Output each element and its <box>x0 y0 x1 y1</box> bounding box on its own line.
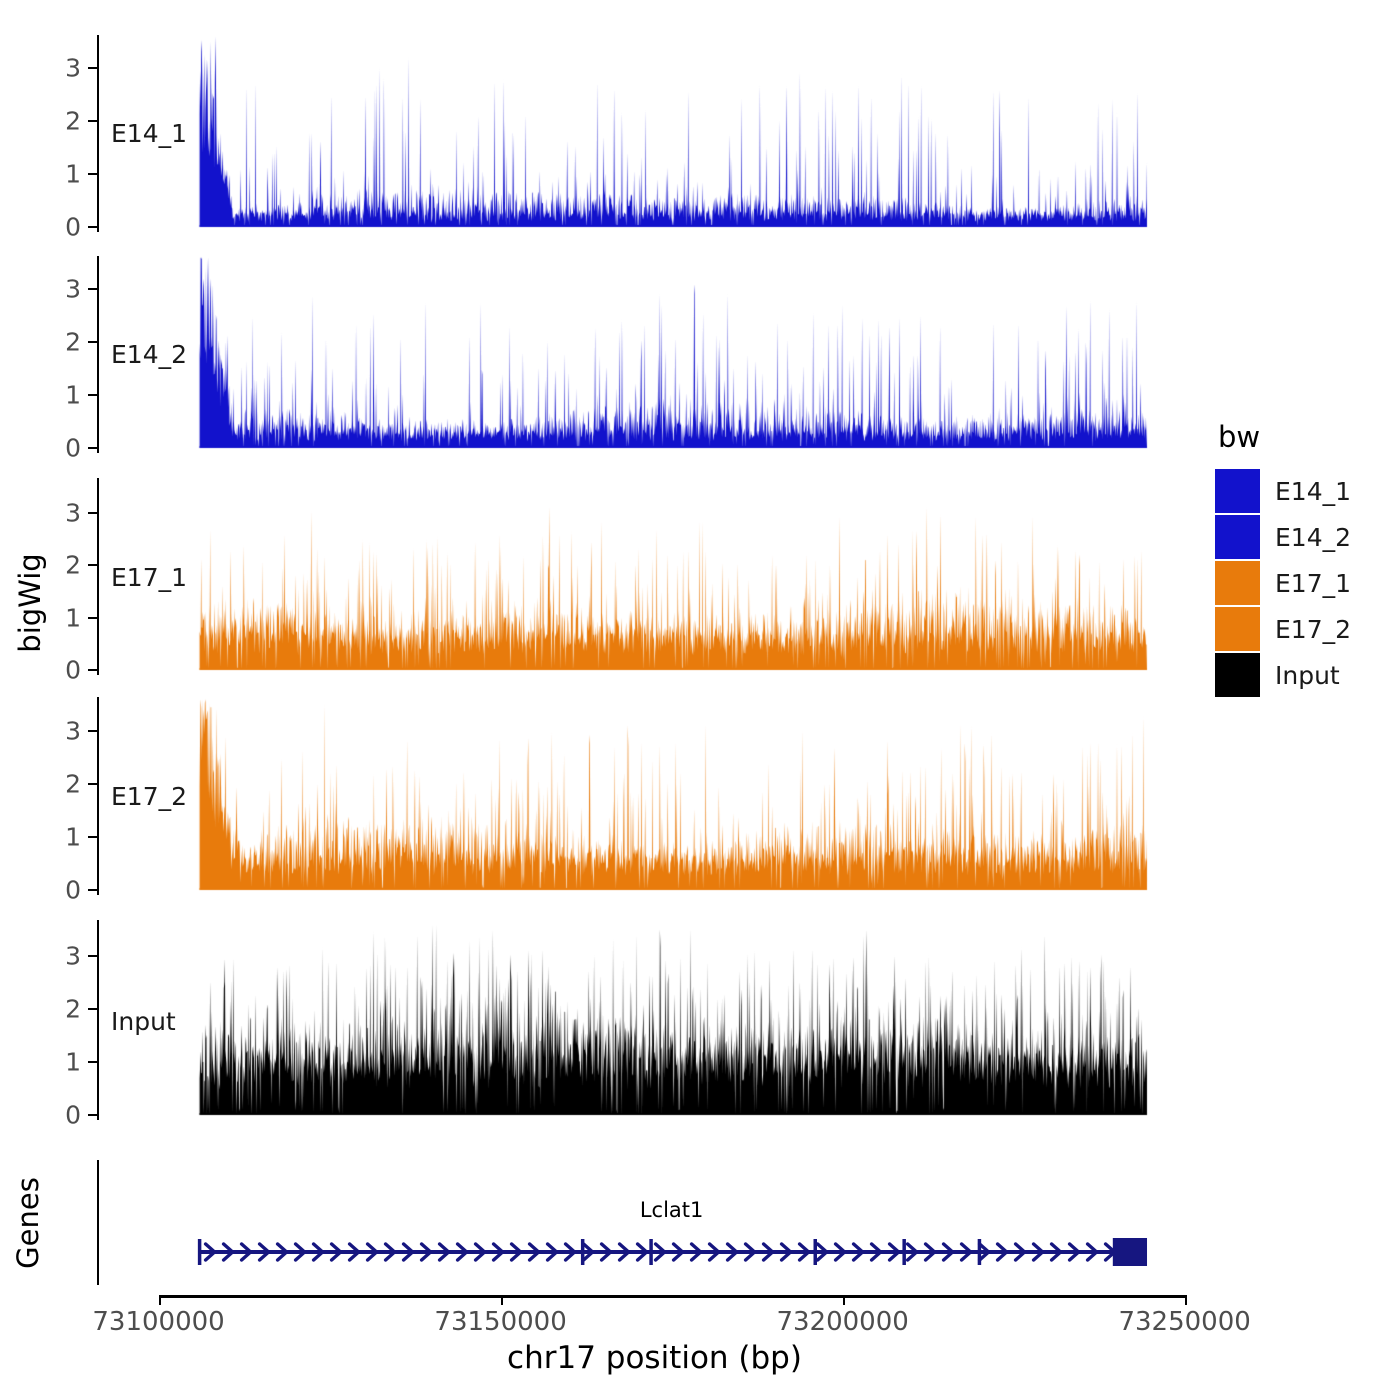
y-tick <box>88 617 97 619</box>
y-tick-label: 0 <box>65 658 81 683</box>
y-tick <box>88 564 97 566</box>
x-tick-label: 73100000 <box>92 1309 224 1335</box>
legend-swatch <box>1215 653 1260 697</box>
track-signal-e14_1 <box>97 35 1212 232</box>
y-tick-label: 3 <box>65 56 81 81</box>
y-tick-label: 2 <box>65 553 81 578</box>
legend-item-e14_1[interactable]: E14_1 <box>1215 468 1400 514</box>
y-tick-label: 1 <box>65 1050 81 1075</box>
y-tick <box>88 783 97 785</box>
y-tick-label: 1 <box>65 605 81 630</box>
y-tick <box>88 67 97 69</box>
y-tick-label: 2 <box>65 997 81 1022</box>
track-signal-e17_1 <box>97 478 1212 675</box>
legend-title: bw <box>1218 420 1400 454</box>
track-panel-e17_2: 0123E17_2 <box>97 697 1212 895</box>
y-tick <box>88 341 97 343</box>
bigwig-axis-title: bigWig <box>12 528 48 678</box>
y-tick-label: 3 <box>65 944 81 969</box>
y-tick <box>88 889 97 891</box>
y-tick <box>88 120 97 122</box>
y-tick-label: 2 <box>65 330 81 355</box>
x-tick <box>1185 1295 1187 1305</box>
x-tick <box>159 1295 161 1305</box>
track-signal-input <box>97 920 1212 1120</box>
legend-swatch <box>1215 561 1260 605</box>
y-tick <box>88 955 97 957</box>
x-axis-line <box>159 1295 1185 1298</box>
track-panel-input: 0123Input <box>97 920 1212 1120</box>
track-panel-e14_2: 0123E14_2 <box>97 256 1212 453</box>
legend-label: E17_2 <box>1275 615 1351 644</box>
legend-label: E17_1 <box>1275 569 1351 598</box>
y-tick-label: 0 <box>65 436 81 461</box>
legend-item-input[interactable]: Input <box>1215 652 1400 698</box>
y-tick <box>88 512 97 514</box>
legend-item-e17_1[interactable]: E17_1 <box>1215 560 1400 606</box>
y-tick <box>88 173 97 175</box>
legend-item-e17_2[interactable]: E17_2 <box>1215 606 1400 652</box>
y-tick-label: 0 <box>65 1103 81 1128</box>
y-tick-label: 0 <box>65 878 81 903</box>
legend-item-e14_2[interactable]: E14_2 <box>1215 514 1400 560</box>
y-tick <box>88 288 97 290</box>
y-tick-label: 1 <box>65 825 81 850</box>
legend-label: Input <box>1275 661 1340 690</box>
legend-swatch <box>1215 469 1260 513</box>
x-tick <box>501 1295 503 1305</box>
track-signal-e14_2 <box>97 256 1212 453</box>
y-tick <box>88 394 97 396</box>
x-tick-label: 73150000 <box>434 1309 566 1335</box>
legend-label: E14_2 <box>1275 523 1351 552</box>
legend: bw E14_1E14_2E17_1E17_2Input <box>1215 420 1400 698</box>
legend-label: E14_1 <box>1275 477 1351 506</box>
y-tick-label: 0 <box>65 215 81 240</box>
y-tick <box>88 447 97 449</box>
x-axis-title: chr17 position (bp) <box>97 1340 1212 1376</box>
y-tick-label: 2 <box>65 772 81 797</box>
legend-items: E14_1E14_2E17_1E17_2Input <box>1215 468 1400 698</box>
genes-axis-title: Genes <box>10 1153 46 1293</box>
legend-swatch <box>1215 607 1260 651</box>
x-tick <box>843 1295 845 1305</box>
track-panel-e17_1: 0123E17_1 <box>97 478 1212 675</box>
x-axis: 73100000731500007320000073250000 <box>97 1295 1212 1335</box>
y-tick-label: 3 <box>65 719 81 744</box>
y-tick <box>88 1114 97 1116</box>
legend-swatch <box>1215 515 1260 559</box>
y-tick-label: 1 <box>65 162 81 187</box>
y-tick-label: 2 <box>65 109 81 134</box>
y-tick-label: 3 <box>65 277 81 302</box>
y-tick <box>88 669 97 671</box>
y-tick <box>88 1008 97 1010</box>
y-tick <box>88 730 97 732</box>
y-tick <box>88 1061 97 1063</box>
figure-root: bigWig Genes 0123E14_10123E14_20123E17_1… <box>0 0 1400 1400</box>
y-tick <box>88 836 97 838</box>
gene-model[interactable] <box>97 1160 1212 1285</box>
y-tick-label: 1 <box>65 383 81 408</box>
y-tick <box>88 226 97 228</box>
gene-terminal-exon <box>1113 1238 1147 1266</box>
x-tick-label: 73200000 <box>776 1309 908 1335</box>
x-tick-label: 73250000 <box>1118 1309 1250 1335</box>
track-panel-e14_1: 0123E14_1 <box>97 35 1212 232</box>
y-tick-label: 3 <box>65 501 81 526</box>
genes-panel: Lclat1 <box>97 1160 1212 1285</box>
track-signal-e17_2 <box>97 697 1212 895</box>
